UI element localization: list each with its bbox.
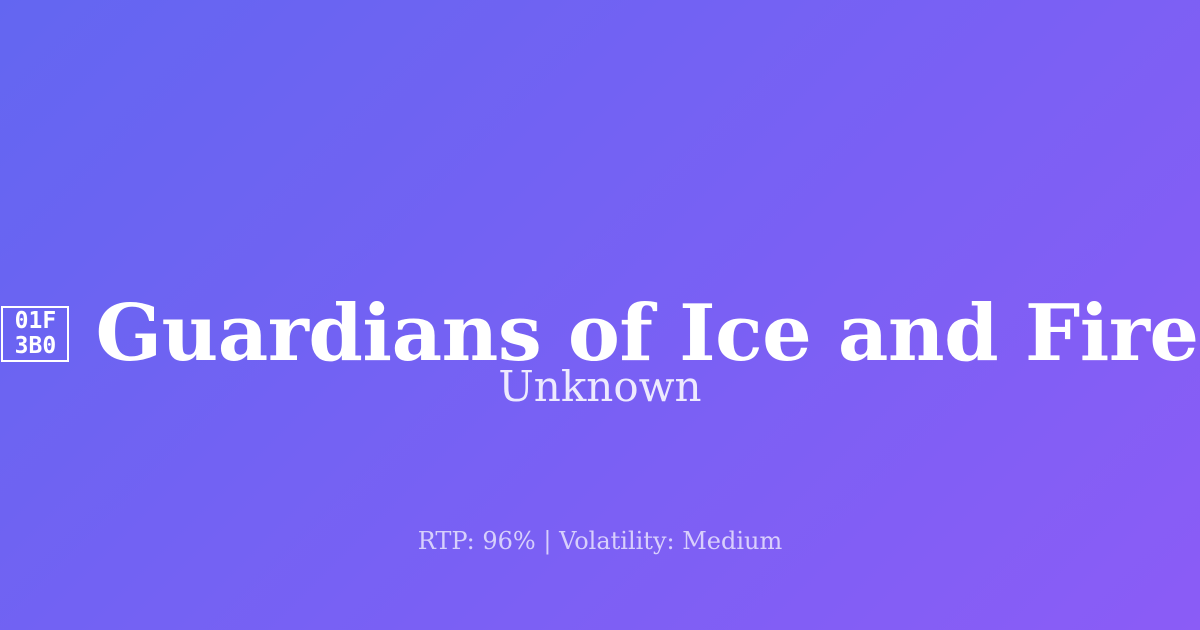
slot-machine-emoji-icon: 01F 3B0 [1, 306, 69, 362]
game-stats-meta: RTP: 96% | Volatility: Medium [0, 529, 1200, 553]
og-share-card: 01F 3B0 Guardians of Ice and Fire Unknow… [0, 0, 1200, 630]
game-provider-subtitle: Unknown [0, 366, 1200, 408]
tofu-codepoint-line-1: 01F [15, 309, 57, 334]
tofu-codepoint-line-2: 3B0 [15, 334, 57, 359]
